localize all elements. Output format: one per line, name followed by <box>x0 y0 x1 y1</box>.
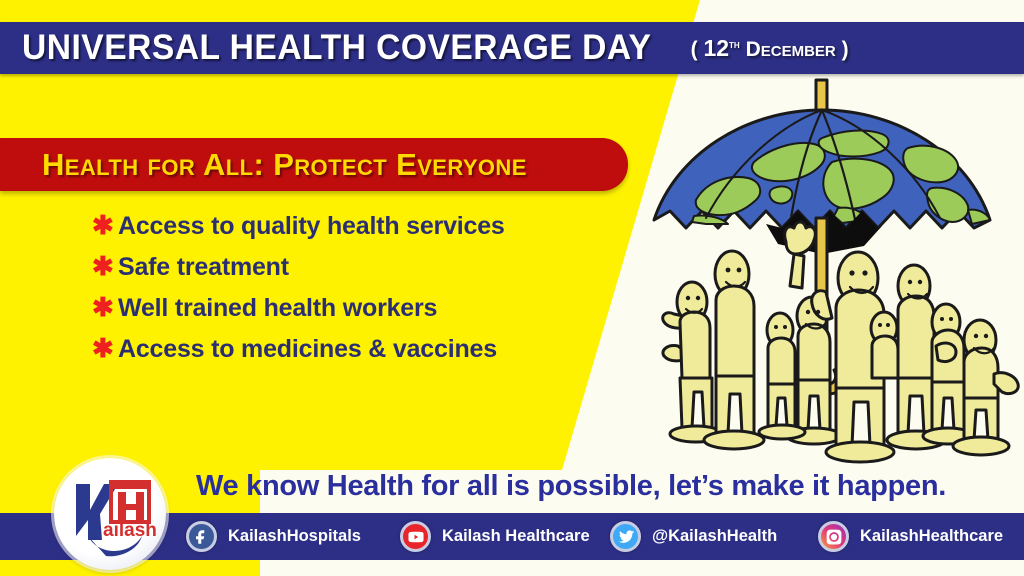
twitter-icon[interactable] <box>610 521 641 552</box>
list-item: ✱ Access to medicines & vaccines <box>92 335 562 365</box>
theme-banner: Health for All: Protect Everyone <box>0 138 628 191</box>
list-item-label: Well trained health workers <box>118 294 437 323</box>
list-item: ✱ Well trained health workers <box>92 294 562 324</box>
social-handle-twitter: @KailashHealth <box>652 527 777 546</box>
tagline: We know Health for all is possible, let’… <box>196 470 946 503</box>
observance-date: ( 12th December ) <box>691 35 849 62</box>
facebook-icon[interactable] <box>186 521 217 552</box>
key-points-list: ✱ Access to quality health services ✱ Sa… <box>92 212 562 376</box>
page-title: UNIVERSAL HEALTH COVERAGE DAY <box>22 28 651 68</box>
social-link-twitter[interactable]: @KailashHealth <box>610 521 777 552</box>
logo-wordmark: ailash <box>103 520 157 541</box>
asterisk-bullet-icon: ✱ <box>92 212 118 238</box>
instagram-icon[interactable] <box>818 521 849 552</box>
asterisk-bullet-icon: ✱ <box>92 253 118 279</box>
title-bar: UNIVERSAL HEALTH COVERAGE DAY ( 12th Dec… <box>0 22 1024 74</box>
social-link-instagram[interactable]: KailashHealthcare <box>818 521 1003 552</box>
theme-banner-text: Health for All: Protect Everyone <box>42 147 527 183</box>
social-handle-youtube: Kailash Healthcare <box>442 527 590 546</box>
social-link-facebook[interactable]: KailashHospitals <box>186 521 361 552</box>
date-paren-close: ) <box>842 38 849 61</box>
asterisk-bullet-icon: ✱ <box>92 335 118 361</box>
list-item-label: Access to quality health services <box>118 212 505 241</box>
kailash-logo[interactable]: ailash <box>54 458 166 570</box>
poster-canvas: UNIVERSAL HEALTH COVERAGE DAY ( 12th Dec… <box>0 0 1024 576</box>
asterisk-bullet-icon: ✱ <box>92 294 118 320</box>
list-item-label: Safe treatment <box>118 253 289 282</box>
social-link-youtube[interactable]: Kailash Healthcare <box>400 521 590 552</box>
date-day-number: 12 <box>703 35 729 61</box>
globe-umbrella-illustration <box>636 78 1024 468</box>
list-item: ✱ Access to quality health services <box>92 212 562 242</box>
youtube-icon[interactable] <box>400 521 431 552</box>
logo-letter-h-shape <box>118 492 144 520</box>
date-month: December <box>746 38 836 61</box>
list-item-label: Access to medicines & vaccines <box>118 335 497 364</box>
social-handle-instagram: KailashHealthcare <box>860 527 1003 546</box>
date-ordinal-suffix: th <box>729 37 740 51</box>
list-item: ✱ Safe treatment <box>92 253 562 283</box>
date-paren-open: ( <box>691 38 698 61</box>
social-handle-facebook: KailashHospitals <box>228 527 361 546</box>
